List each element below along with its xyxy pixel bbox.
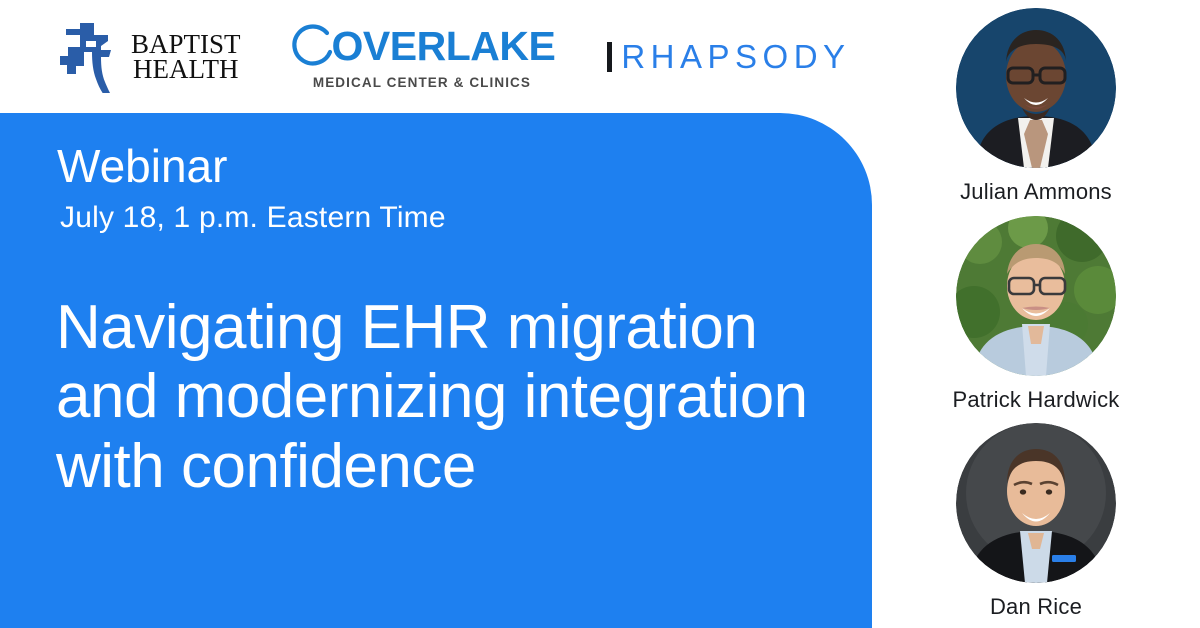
rhapsody-logo: RHAPSODY bbox=[607, 38, 850, 76]
baptist-health-line2: HEALTH bbox=[131, 57, 241, 82]
baptist-health-wordmark: BAPTIST HEALTH bbox=[131, 32, 241, 82]
rhapsody-wordmark: RHAPSODY bbox=[621, 38, 850, 76]
speaker-patrick-hardwick: Patrick Hardwick bbox=[872, 216, 1200, 413]
webinar-headline: Navigating EHR migration and modernizing… bbox=[56, 293, 866, 501]
speaker-photo-3 bbox=[956, 423, 1116, 583]
speaker-dan-rice: Dan Rice bbox=[872, 423, 1200, 620]
partner-logo-bar: BAPTIST HEALTH OVERLAKE MEDICAL CENTER &… bbox=[0, 0, 900, 113]
rhapsody-bar-icon bbox=[607, 42, 612, 72]
baptist-health-logo: BAPTIST HEALTH bbox=[56, 21, 241, 93]
overlake-circle-icon bbox=[289, 24, 335, 70]
overlake-wordmark-row: OVERLAKE bbox=[289, 24, 556, 70]
webinar-kicker: Webinar bbox=[57, 139, 227, 193]
speaker-name: Patrick Hardwick bbox=[872, 387, 1200, 413]
speaker-name: Julian Ammons bbox=[872, 179, 1200, 205]
speaker-name: Dan Rice bbox=[872, 594, 1200, 620]
overlake-tagline: MEDICAL CENTER & CLINICS bbox=[289, 75, 556, 90]
avatar bbox=[956, 423, 1116, 583]
baptist-health-line1: BAPTIST bbox=[131, 32, 241, 57]
speaker-list: Julian Ammons bbox=[872, 0, 1200, 628]
speaker-photo-2 bbox=[956, 216, 1116, 376]
overlake-wordmark: OVERLAKE bbox=[332, 26, 556, 67]
baptist-health-florida-cross-icon bbox=[56, 21, 130, 93]
webinar-panel: Webinar July 18, 1 p.m. Eastern Time Nav… bbox=[0, 113, 872, 628]
avatar bbox=[956, 216, 1116, 376]
avatar bbox=[956, 8, 1116, 168]
speaker-julian-ammons: Julian Ammons bbox=[872, 8, 1200, 205]
overlake-logo: OVERLAKE MEDICAL CENTER & CLINICS bbox=[289, 24, 556, 90]
webinar-datetime: July 18, 1 p.m. Eastern Time bbox=[60, 201, 446, 235]
speaker-photo-1 bbox=[956, 8, 1116, 168]
